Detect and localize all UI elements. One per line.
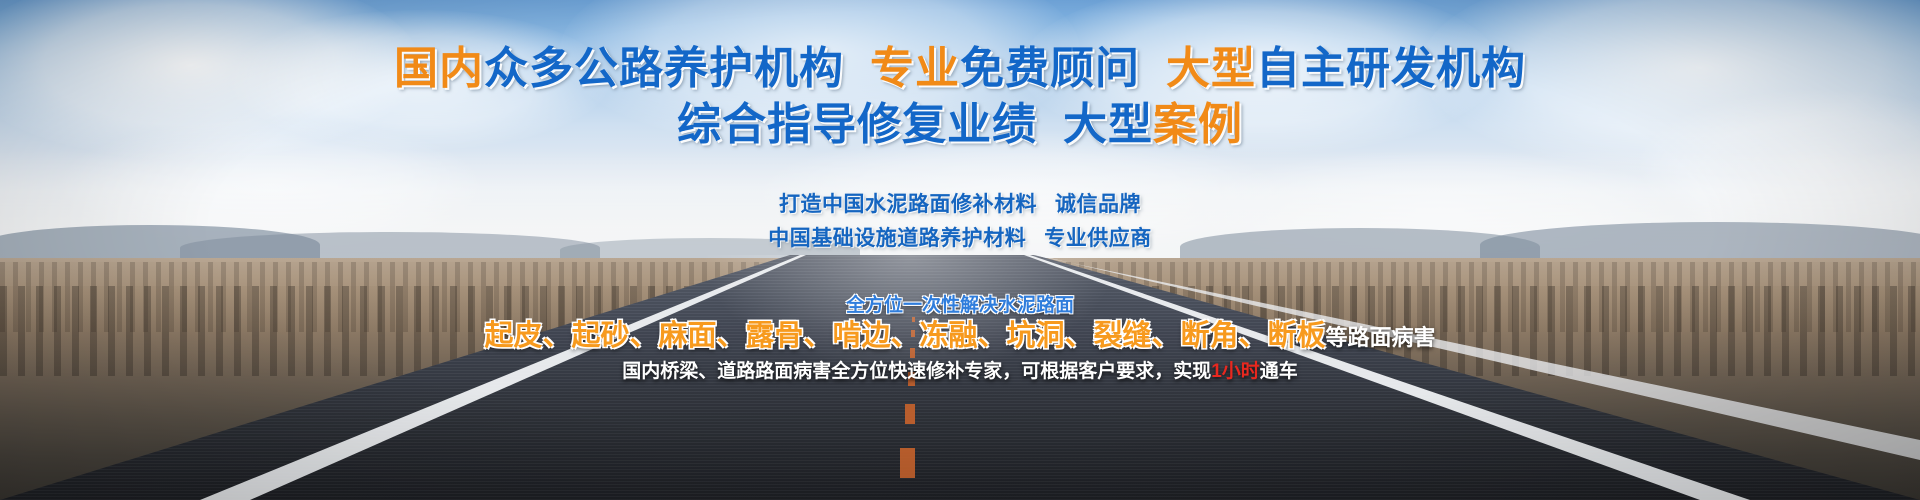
subhead-line-1: 打造中国水泥路面修补材料诚信品牌 xyxy=(0,192,1920,218)
headline-line-1: 国内众多公路养护机构专业免费顾问大型自主研发机构 xyxy=(0,44,1920,94)
headline-1-seg-3: 专业 xyxy=(870,44,960,93)
subhead-1-b: 诚信品牌 xyxy=(1055,193,1141,216)
subhead-2-b: 专业供应商 xyxy=(1044,227,1152,250)
footer-pre: 国内桥梁、道路路面病害全方位快速修补专家，可根据客户要求，实现 xyxy=(622,361,1211,382)
headline-1-seg-2: 众多公路养护机构 xyxy=(484,44,844,93)
headline-line-2: 综合指导修复业绩大型案例 xyxy=(0,100,1920,150)
headline-1-seg-6: 自主研发机构 xyxy=(1256,44,1526,93)
promo-banner: 国内众多公路养护机构专业免费顾问大型自主研发机构 综合指导修复业绩大型案例 打造… xyxy=(0,0,1920,500)
headline-2-seg-1: 综合指导修复业绩 xyxy=(677,100,1037,149)
bottom-disease-list: 起皮、起砂、麻面、露骨、啃边、冻融、坑洞、裂缝、断角、断板等路面病害 xyxy=(0,318,1920,356)
subhead-1-a: 打造中国水泥路面修补材料 xyxy=(779,193,1037,216)
subhead-2-a: 中国基础设施道路养护材料 xyxy=(768,227,1026,250)
headline-1-seg-1: 国内 xyxy=(394,44,484,93)
footer-post: 通车 xyxy=(1260,361,1298,382)
disease-names: 起皮、起砂、麻面、露骨、啃边、冻融、坑洞、裂缝、断角、断板 xyxy=(484,320,1325,352)
banner-content: 国内众多公路养护机构专业免费顾问大型自主研发机构 综合指导修复业绩大型案例 打造… xyxy=(0,0,1920,500)
headline-2-seg-3: 案例 xyxy=(1153,100,1243,149)
headline-1-seg-4: 免费顾问 xyxy=(960,44,1140,93)
bottom-footer-text: 国内桥梁、道路路面病害全方位快速修补专家，可根据客户要求，实现1小时通车 xyxy=(0,360,1920,384)
disease-suffix: 等路面病害 xyxy=(1326,325,1436,350)
subhead-line-2: 中国基础设施道路养护材料专业供应商 xyxy=(0,226,1920,252)
headline-2-seg-2: 大型 xyxy=(1063,100,1153,149)
footer-highlight: 1小时 xyxy=(1211,361,1260,382)
headline-1-seg-5: 大型 xyxy=(1166,44,1256,93)
bottom-lead-text: 全方位一次性解决水泥路面 xyxy=(0,294,1920,318)
